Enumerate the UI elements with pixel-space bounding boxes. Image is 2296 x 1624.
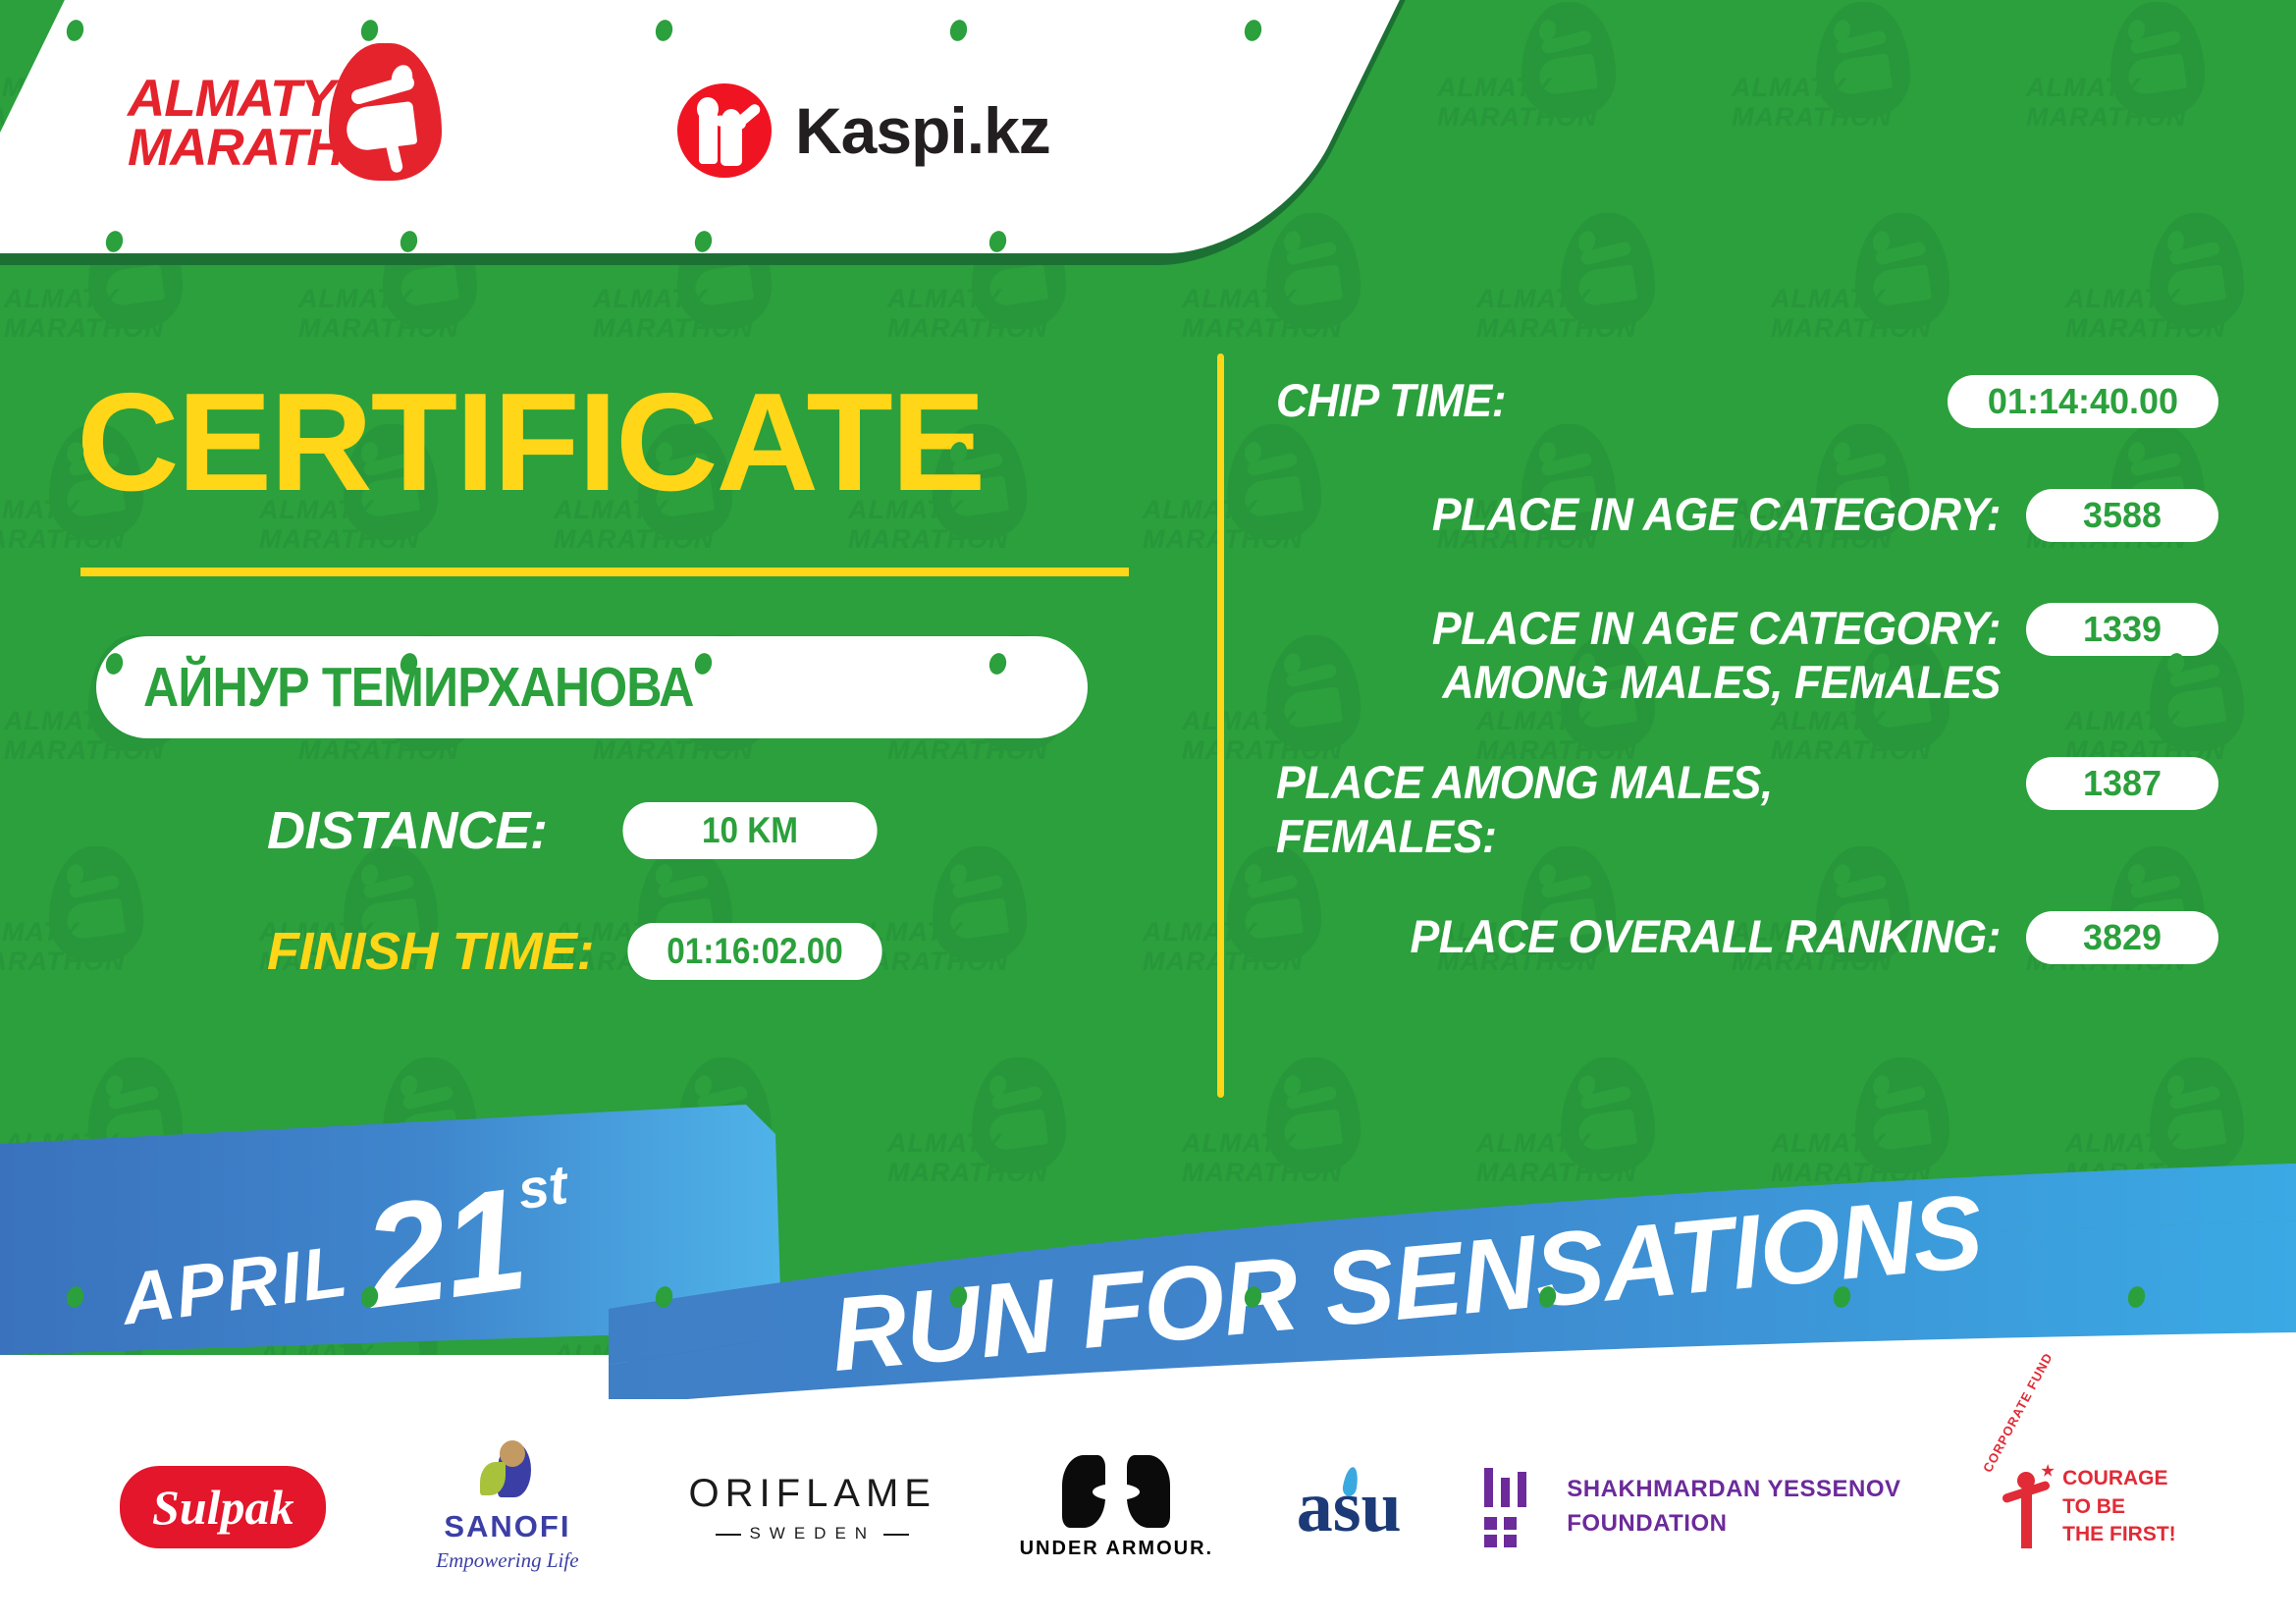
watermark-line2: MARATHON (887, 737, 1047, 764)
title-divider (80, 568, 1129, 576)
watermark-line2: MARATHON (1182, 315, 1342, 342)
sanofi-name: SANOFI (409, 1509, 606, 1544)
age-category-gender-value: 1339 (2026, 603, 2218, 656)
watermark-line2: MARATHON (848, 526, 1008, 553)
distance-label: DISTANCE: (267, 800, 548, 861)
gender-place-label-line2: FEMALES: (1276, 809, 1964, 863)
yessenov-name-line2: FOUNDATION (1567, 1507, 1900, 1542)
result-row-overall-ranking: PLACE OVERALL RANKING: 3829 (1276, 909, 2218, 978)
courage-line3: THE FIRST! (2062, 1521, 2176, 1548)
watermark-line2: MARATHON (4, 737, 164, 764)
sponsor-yessenov-foundation[interactable]: SHAKHMARDAN YESSENOV FOUNDATION (1484, 1468, 1900, 1546)
courage-to-be-first-logo: CORPORATE FUND COURAGE TO BE THE FIRST! (1984, 1462, 2176, 1552)
oriflame-logo: ORIFLAME SWEDEN (689, 1472, 936, 1543)
finish-time-label: FINISH TIME: (267, 921, 594, 982)
courage-line2: TO BE (2062, 1493, 2176, 1521)
gender-place-value: 1387 (2026, 757, 2218, 810)
page-title: CERTIFICATE (77, 373, 984, 513)
participant-name-field: АЙНУР ТЕМИРХАНОВА (96, 636, 1088, 738)
result-row-gender-place: PLACE AMONG MALES, FEMALES: 1387 (1276, 755, 2218, 864)
chip-time-value: 01:14:40.00 (1948, 375, 2218, 428)
sponsor-courage-fund[interactable]: CORPORATE FUND COURAGE TO BE THE FIRST! (1984, 1462, 2176, 1552)
watermark-tile: ALMATYMARATHON (1472, 191, 1679, 358)
sponsor-asu[interactable]: asu (1297, 1471, 1402, 1543)
vertical-divider (1217, 353, 1224, 1098)
finish-time-row: FINISH TIME: 01:16:02.00 (267, 921, 896, 982)
watermark-tile: ALMATYMARATHON (2022, 0, 2228, 147)
watermark-tile: ALMATYMARATHON (2061, 191, 2268, 358)
watermark-line1: ALMATY (1476, 286, 1590, 312)
watermark-line2: MARATHON (1732, 104, 1892, 131)
courage-line1: COURAGE (2062, 1465, 2176, 1492)
watermark-line2: MARATHON (0, 526, 125, 553)
overall-ranking-label: PLACE OVERALL RANKING: (1312, 909, 2001, 963)
sponsor-sulpak[interactable]: Sulpak (120, 1466, 326, 1548)
sponsor-oriflame[interactable]: ORIFLAME SWEDEN (689, 1472, 936, 1543)
watermark-line2: MARATHON (259, 526, 419, 553)
yessenov-name: SHAKHMARDAN YESSENOV FOUNDATION (1567, 1473, 1900, 1542)
watermark-tile: ALMATYMARATHON (1433, 0, 1639, 147)
event-ribbon: APRIL 21 st RUN FOR SENSATIONS (0, 1105, 2296, 1399)
watermark-line1: ALMATY (4, 286, 118, 312)
overall-ranking-value: 3829 (2026, 911, 2218, 964)
watermark-line1: ALMATY (1182, 286, 1296, 312)
distance-value: 10 KM (622, 802, 877, 859)
watermark-line1: ALMATY (1732, 75, 1845, 101)
courage-figure-icon (2000, 1462, 2053, 1552)
asu-logo: asu (1297, 1471, 1402, 1543)
gender-place-label-line1: PLACE AMONG MALES, (1276, 755, 1964, 809)
almaty-marathon-logo[interactable]: ALMATY MARATHON (128, 51, 452, 198)
watermark-line2: MARATHON (298, 737, 458, 764)
watermark-line2: MARATHON (1771, 315, 1931, 342)
sponsor-sanofi[interactable]: SANOFI Empowering Life (409, 1442, 606, 1573)
watermark-line1: ALMATY (1143, 919, 1256, 946)
event-day: 21 (359, 1180, 531, 1316)
watermark-line1: ALMATY (2065, 286, 2179, 312)
age-category-gender-label-line1: PLACE IN AGE CATEGORY: (1312, 601, 2001, 655)
watermark-line2: MARATHON (0, 948, 125, 975)
watermark-line2: MARATHON (593, 315, 753, 342)
results-panel: CHIP TIME: 01:14:40.00 PLACE IN AGE CATE… (1276, 373, 2218, 1023)
sanofi-logo: SANOFI Empowering Life (409, 1442, 606, 1573)
event-day-ordinal: st (514, 1152, 571, 1221)
kaspi-wordmark: Kaspi.kz (795, 93, 1050, 168)
watermark-line2: MARATHON (4, 315, 164, 342)
watermark-line1: ALMATY (2026, 75, 2140, 101)
age-category-gender-label-line2: AMONG MALES, FEMALES (1312, 655, 2001, 709)
oriflame-name: ORIFLAME (689, 1472, 936, 1516)
watermark-line1: ALMATY (1771, 286, 1885, 312)
sanofi-mark-icon (476, 1442, 539, 1503)
sponsor-under-armour[interactable]: UNDER ARMOUR. (1020, 1455, 1213, 1560)
watermark-line1: ALMATY (298, 286, 412, 312)
chip-time-label: CHIP TIME: (1276, 373, 1890, 427)
yessenov-bars-icon (1484, 1468, 1545, 1546)
finish-time-value: 01:16:02.00 (627, 923, 881, 980)
under-armour-mark-icon (1062, 1455, 1170, 1528)
sanofi-tagline: Empowering Life (409, 1548, 606, 1573)
oriflame-sub: SWEDEN (716, 1524, 909, 1543)
runner-drop-icon (329, 43, 442, 181)
watermark-line2: MARATHON (298, 315, 458, 342)
watermark-line1: ALMATY (0, 919, 79, 946)
watermark-tile: ALMATYMARATHON (1728, 0, 1934, 147)
under-armour-logo: UNDER ARMOUR. (1020, 1455, 1213, 1560)
age-category-label: PLACE IN AGE CATEGORY: (1312, 487, 2001, 541)
certificate-page: ALMATYMARATHONALMATYMARATHONALMATYMARATH… (0, 0, 2296, 1624)
sulpak-logo: Sulpak (120, 1466, 326, 1548)
yessenov-name-line1: SHAKHMARDAN YESSENOV (1567, 1473, 1900, 1507)
watermark-tile: ALMATYMARATHON (0, 825, 167, 992)
watermark-line2: MARATHON (1476, 315, 1636, 342)
runner-body-shape (345, 101, 418, 152)
watermark-line1: ALMATY (593, 286, 707, 312)
watermark-line2: MARATHON (554, 526, 714, 553)
watermark-line2: MARATHON (887, 315, 1047, 342)
age-category-gender-label: PLACE IN AGE CATEGORY: AMONG MALES, FEMA… (1312, 601, 2001, 710)
watermark-line1: ALMATY (0, 497, 79, 523)
watermark-line1: ALMATY (887, 286, 1001, 312)
result-row-chip-time: CHIP TIME: 01:14:40.00 (1276, 373, 2218, 442)
kaspi-people-icon (677, 83, 772, 178)
watermark-line2: MARATHON (2026, 104, 2186, 131)
gender-place-label: PLACE AMONG MALES, FEMALES: (1276, 755, 1964, 864)
result-row-age-category-gender: PLACE IN AGE CATEGORY: AMONG MALES, FEMA… (1276, 601, 2218, 710)
watermark-line2: MARATHON (593, 737, 753, 764)
watermark-line1: ALMATY (1143, 497, 1256, 523)
distance-row: DISTANCE: 10 KM (267, 800, 891, 861)
participant-name-value: АЙНУР ТЕМИРХАНОВА (143, 655, 693, 720)
result-row-age-category: PLACE IN AGE CATEGORY: 3588 (1276, 487, 2218, 556)
watermark-line1: ALMATY (1437, 75, 1551, 101)
kaspi-logo[interactable]: Kaspi.kz (677, 83, 1050, 178)
watermark-line2: MARATHON (2065, 315, 2225, 342)
watermark-line2: MARATHON (1437, 104, 1597, 131)
age-category-value: 3588 (2026, 489, 2218, 542)
sponsor-bar: Sulpak SANOFI Empowering Life ORIFLAME S… (0, 1414, 2296, 1600)
courage-text: COURAGE TO BE THE FIRST! (2062, 1465, 2176, 1548)
under-armour-name: UNDER ARMOUR. (1020, 1538, 1213, 1560)
yessenov-foundation-logo: SHAKHMARDAN YESSENOV FOUNDATION (1484, 1468, 1900, 1546)
watermark-tile: ALMATYMARATHON (1767, 191, 1973, 358)
watermark-line1: ALMATY (4, 708, 118, 734)
